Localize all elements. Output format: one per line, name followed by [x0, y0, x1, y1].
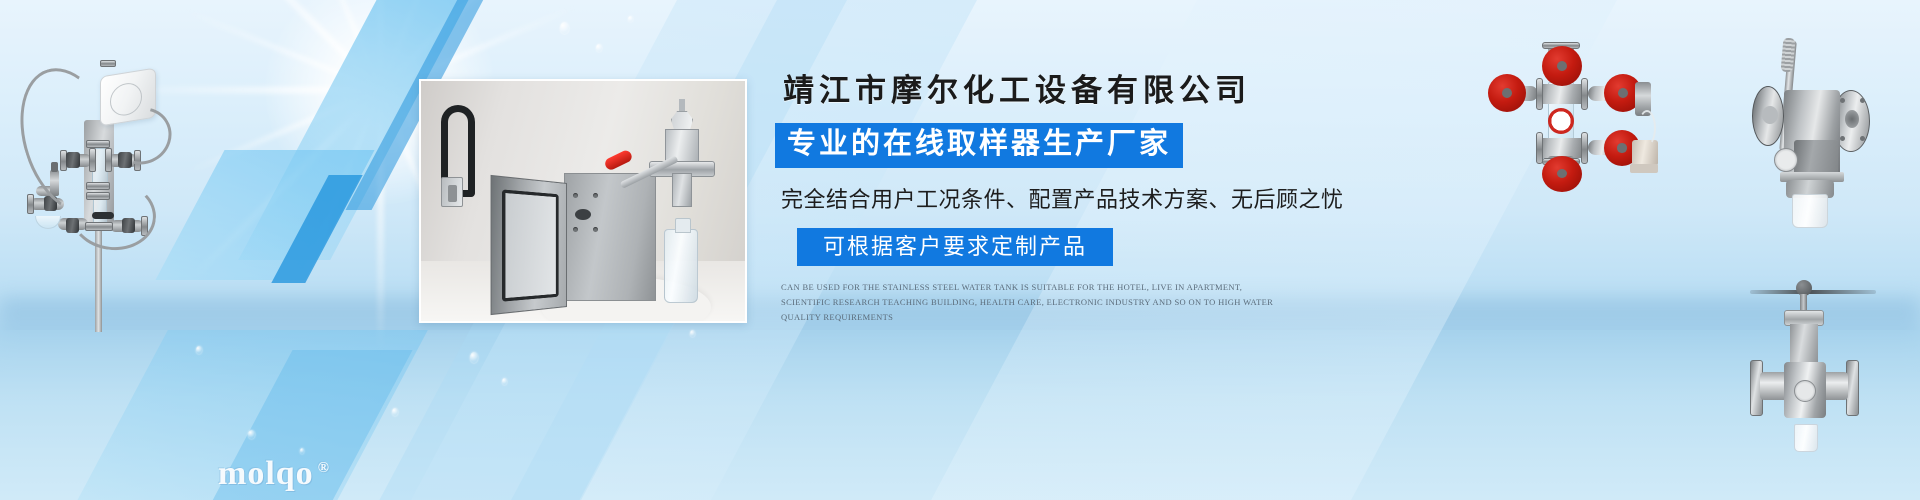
product-photo-sampler-cabinet[interactable] [419, 79, 747, 323]
company-name: 靖江市摩尔化工设备有限公司 [775, 72, 1415, 111]
brand-medallion-icon [1548, 108, 1574, 134]
inline-sampling-valve [1740, 268, 1920, 458]
handwheel-bottom [1542, 156, 1582, 192]
handwheel-left [1488, 74, 1526, 112]
registered-mark: ® [318, 460, 330, 476]
flanged-lever-valve [1700, 20, 1920, 240]
sub-headline: 完全结合用户工况条件、配置产品技术方案、无后顾之忧 [775, 182, 1415, 214]
watermark-text: molqo [218, 455, 314, 492]
cabinet-door [491, 175, 567, 315]
sample-bottle [664, 229, 698, 303]
cabinet-port [575, 209, 591, 220]
promo-banner: 靖江市摩尔化工设备有限公司 专业的在线取样器生产厂家 完全结合用户工况条件、配置… [0, 0, 1920, 500]
door-latch [441, 177, 463, 207]
handwheel-top [1542, 46, 1582, 86]
valve-head [643, 109, 721, 205]
banner-text-block: 靖江市摩尔化工设备有限公司 专业的在线取样器生产厂家 完全结合用户工况条件、配置… [775, 72, 1415, 325]
english-description: CAN BE USED FOR THE STAINLESS STEEL WATE… [775, 280, 1275, 325]
brand-watermark: molqo® [218, 455, 330, 493]
left-equipment-sampler-assembly [0, 20, 200, 320]
custom-product-badge: 可根据客户要求定制产品 [797, 228, 1113, 266]
headline-badge: 专业的在线取样器生产厂家 [775, 123, 1183, 168]
cross-valve-manifold [1480, 30, 1710, 190]
